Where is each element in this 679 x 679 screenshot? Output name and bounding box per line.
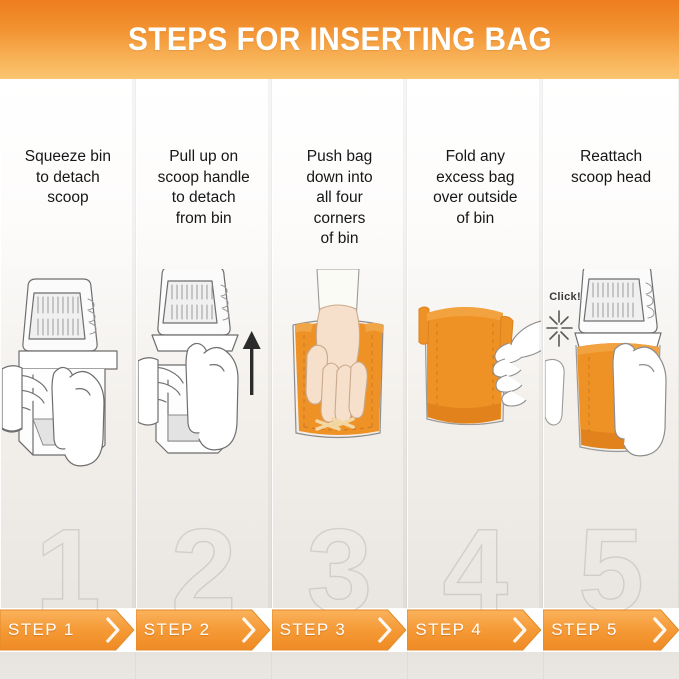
step-badge-label-1: STEP 1 <box>8 608 112 652</box>
step-badge-3[interactable]: STEP 3 <box>272 608 408 652</box>
step-illustration-3 <box>272 269 408 504</box>
step-badge-4[interactable]: STEP 4 <box>407 608 543 652</box>
step-panel-5[interactable]: Reattach scoop head 5 <box>543 79 679 608</box>
step-badge-label-3: STEP 3 <box>280 608 384 652</box>
step-illustration-5: Click! <box>543 269 679 504</box>
step-panel-4[interactable]: Fold any excess bag over outside of bin … <box>407 79 543 608</box>
step-badge-bar: STEP 1 STEP 2 STEP 3 STEP 4 <box>0 608 679 652</box>
step-badge-label-2: STEP 2 <box>144 608 248 652</box>
step-badge-label-4: STEP 4 <box>415 608 519 652</box>
step-panel-2[interactable]: Pull up on scoop handle to detach from b… <box>136 79 272 608</box>
footer-strip <box>0 652 679 679</box>
step-caption-5: Reattach scoop head <box>547 147 675 188</box>
step-caption-3: Push bag down into all four corners of b… <box>276 147 404 250</box>
steps-board: Squeeze bin to detach scoop 1 <box>0 79 679 608</box>
header-banner: STEPS FOR INSERTING BAG <box>0 0 679 79</box>
step-panel-3[interactable]: Push bag down into all four corners of b… <box>272 79 408 608</box>
step-caption-1: Squeeze bin to detach scoop <box>4 147 132 209</box>
step-panel-1[interactable]: Squeeze bin to detach scoop 1 <box>0 79 136 608</box>
step-illustration-4 <box>407 269 543 504</box>
infographic-root: STEPS FOR INSERTING BAG Squeeze bin to d… <box>0 0 679 679</box>
step-caption-2: Pull up on scoop handle to detach from b… <box>140 147 268 229</box>
step-caption-4: Fold any excess bag over outside of bin <box>411 147 539 229</box>
step-badge-5[interactable]: STEP 5 <box>543 608 679 652</box>
step-illustration-1 <box>0 269 136 504</box>
step-illustration-2 <box>136 269 272 504</box>
click-annotation: Click! <box>549 291 581 303</box>
step-badge-label-5: STEP 5 <box>551 608 655 652</box>
up-arrow-icon <box>242 331 260 395</box>
page-title: STEPS FOR INSERTING BAG <box>127 21 551 58</box>
click-burst-icon <box>547 311 572 346</box>
step-badge-1[interactable]: STEP 1 <box>0 608 136 652</box>
step-badge-2[interactable]: STEP 2 <box>136 608 272 652</box>
